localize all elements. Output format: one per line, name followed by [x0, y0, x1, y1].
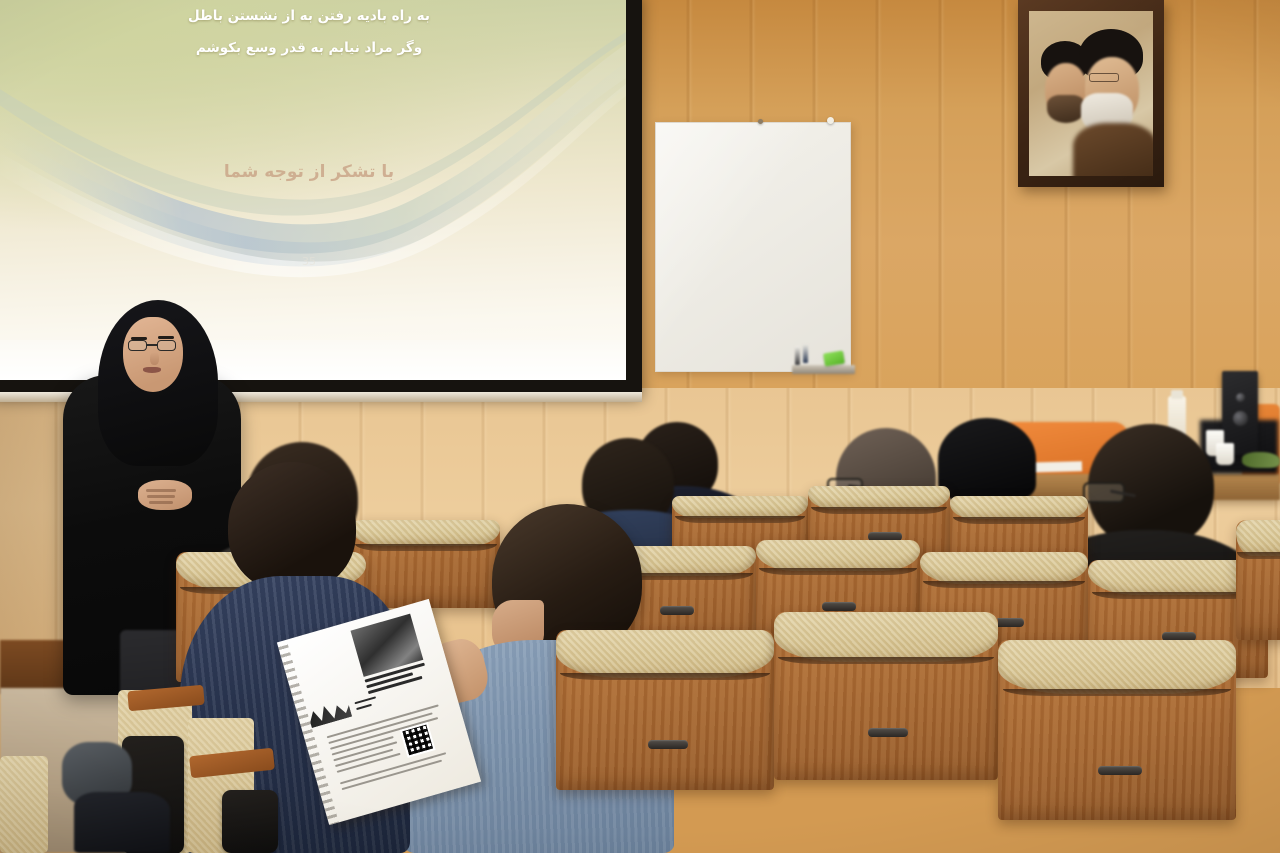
slide-poem-line-1: به راه بادیه رفتن به از نشستن باطل: [0, 8, 626, 24]
slide-poem-line-2: وگر مراد نیابم به قدر وسع بکوشم: [0, 40, 626, 56]
paper-cup-2: [1216, 443, 1234, 465]
auditorium-seat[interactable]: [556, 630, 774, 790]
slide-bottom-band: [0, 340, 626, 380]
slide-thanks-text: با تشکر از توجه شما: [0, 162, 626, 182]
speaker-driver: [1233, 411, 1248, 426]
whiteboard-mount-left: [758, 119, 763, 124]
handout-logo: [306, 697, 352, 728]
portrait-image: [1029, 11, 1153, 176]
whiteboard-mount-right: [827, 117, 834, 124]
seat-side-panel: [0, 756, 48, 853]
seated-leg: [74, 792, 170, 853]
projection-screen-frame: به راه بادیه رفتن به از نشستن باطل وگر م…: [0, 0, 642, 396]
auditorium-seat[interactable]: [1236, 520, 1280, 640]
conference-room-photo: به راه بادیه رفتن به از نشستن باطل وگر م…: [0, 0, 1280, 853]
presenter-nose: [150, 352, 159, 365]
presenter-mouth: [143, 367, 161, 373]
whiteboard-marker-tray: [792, 365, 855, 374]
presenter-brow-right: [158, 336, 174, 339]
speaker-tweeter: [1236, 393, 1245, 402]
slide-number: 35: [0, 255, 626, 268]
framed-leaders-portrait: [1018, 0, 1164, 187]
portrait-figure-rear-beard: [1047, 95, 1085, 123]
portrait-glasses-icon: [1089, 73, 1119, 82]
handout-qr-code: [400, 722, 436, 758]
presenter-glasses-icon: [128, 340, 178, 351]
black-marker-icon: [795, 346, 800, 365]
seat-armrest-pad[interactable]: [222, 790, 278, 853]
slide-wave-graphic: [0, 0, 626, 380]
presenter-clasped-hands: [138, 480, 192, 510]
water-bottle-cap: [1171, 390, 1183, 399]
projection-screen: به راه بادیه رفتن به از نشستن باطل وگر م…: [0, 0, 626, 380]
portrait-figure-robe: [1073, 123, 1153, 176]
whiteboard: [655, 122, 851, 372]
plant-decoration: [1242, 452, 1280, 468]
auditorium-seat[interactable]: [774, 612, 998, 780]
auditorium-seat[interactable]: [998, 640, 1236, 820]
blue-marker-icon: [803, 344, 808, 363]
